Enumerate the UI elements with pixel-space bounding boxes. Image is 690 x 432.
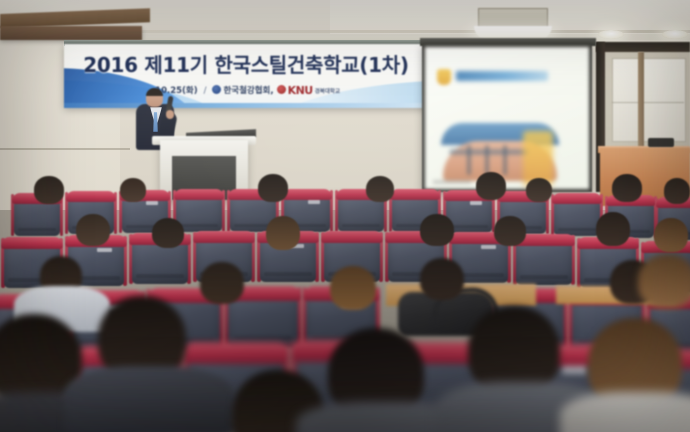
attendee-head [34, 176, 64, 204]
presenter-head [146, 88, 163, 107]
attendee-head [476, 172, 506, 200]
knu-logo-icon [277, 85, 286, 94]
alcove-board-line [612, 102, 684, 103]
counter-object [648, 138, 674, 147]
attendee-head [330, 266, 376, 310]
slide-diagram [441, 123, 559, 181]
ksa-logo-icon [212, 85, 221, 94]
seat [176, 192, 222, 232]
lecture-hall-photo: 2016 제11기 한국스틸건축학교(1차) .10.25(화) / 한국철강협… [0, 0, 690, 432]
attendee-head [654, 218, 688, 252]
attendee-head [258, 174, 288, 202]
downlight-icon [598, 30, 624, 39]
attendee-head [420, 214, 454, 246]
banner-knu-name: 경북대학교 [315, 89, 340, 95]
attendee-head [200, 262, 244, 304]
attendee-head [526, 178, 552, 202]
slide-logo-icon [437, 69, 451, 85]
slide-heading [456, 71, 548, 81]
banner-subtitle: .10.25(화) / 한국철강협회, KNU경북대학교 [64, 84, 428, 97]
attendee-head [638, 254, 690, 308]
presenter-hand [166, 110, 174, 119]
slide-footer [433, 180, 471, 184]
attendee-head [120, 178, 146, 202]
attendee-shoulders [560, 392, 690, 432]
downlight-icon [662, 30, 688, 39]
seat [516, 237, 572, 285]
attendee-head [596, 212, 630, 246]
event-banner: 2016 제11기 한국스틸건축학교(1차) .10.25(화) / 한국철강협… [64, 44, 428, 108]
attendee-shoulders [64, 366, 234, 432]
banner-title: 2016 제11기 한국스틸건축학교(1차) [64, 49, 428, 78]
banner-separator: / [204, 86, 207, 96]
ceiling-beam [0, 26, 142, 40]
seat [554, 196, 600, 236]
slide-diagram-pile [485, 145, 489, 175]
slide-diagram-strata [449, 149, 529, 155]
banner-knu-mark: KNU [288, 84, 313, 97]
wall-panel-line [0, 148, 130, 150]
projection-screen [425, 47, 589, 189]
banner-org-primary: 한국철강협회, [223, 86, 273, 96]
attendee-head [420, 258, 464, 300]
attendee-head [366, 176, 394, 202]
attendee-head [152, 218, 184, 248]
attendee-head [494, 216, 526, 246]
alcove-whiteboard [612, 58, 686, 142]
slide-diagram-pile [503, 145, 507, 175]
alcove-frame-top [596, 42, 690, 52]
attendee-head [76, 214, 110, 246]
slide-diagram-pile [467, 145, 471, 175]
attendee-head [612, 174, 642, 202]
attendee-head [664, 178, 690, 204]
attendee-head [266, 216, 300, 250]
banner-bottom-rule [64, 103, 428, 108]
